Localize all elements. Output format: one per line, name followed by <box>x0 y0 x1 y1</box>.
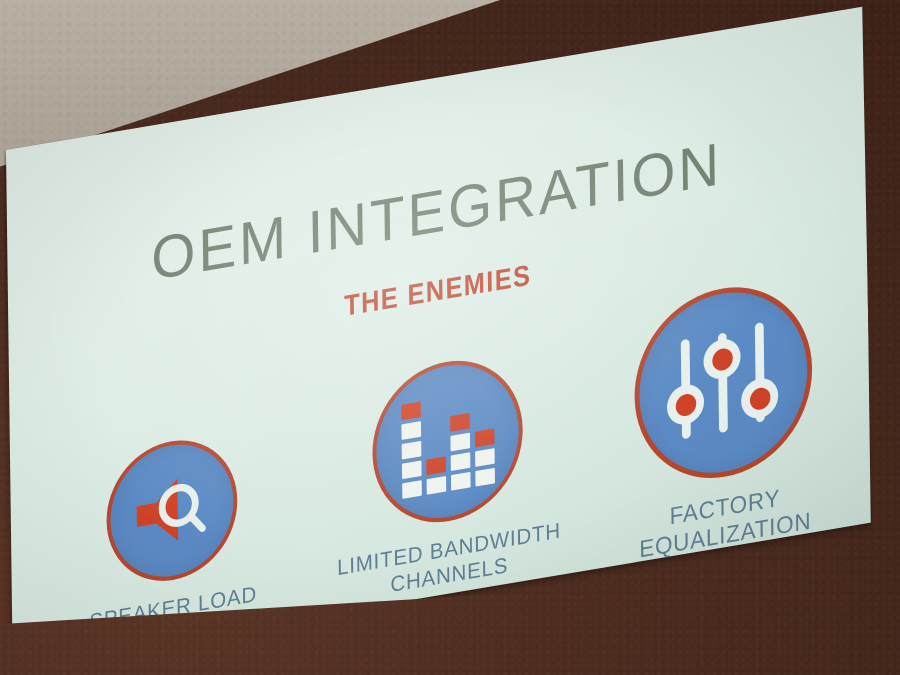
slider-knob <box>741 376 779 422</box>
equalizer-column <box>401 402 422 499</box>
equalizer-columns <box>401 384 495 499</box>
equalizer-column <box>426 456 446 494</box>
equalizer-column <box>474 429 494 487</box>
projection-scene: OEM INTEGRATION THE ENEMIES <box>0 0 900 675</box>
slider-controls-icon <box>633 274 813 492</box>
enemy-card-factory-equalization: FACTORY EQUALIZATION <box>600 268 847 570</box>
enemy-caption: FACTORY EQUALIZATION <box>639 479 812 564</box>
slider-knob <box>703 336 741 382</box>
equalizer-blocks-icon <box>371 349 523 533</box>
speaker-magnifier-glyph <box>131 467 214 555</box>
enemy-card-limited-bandwidth-channels: LIMITED BANDWIDTH CHANNELS <box>325 341 572 609</box>
slider-group <box>664 311 783 455</box>
equalizer-column <box>450 413 470 491</box>
slider-knob <box>667 382 705 428</box>
speaker-magnifier-icon <box>106 430 238 591</box>
